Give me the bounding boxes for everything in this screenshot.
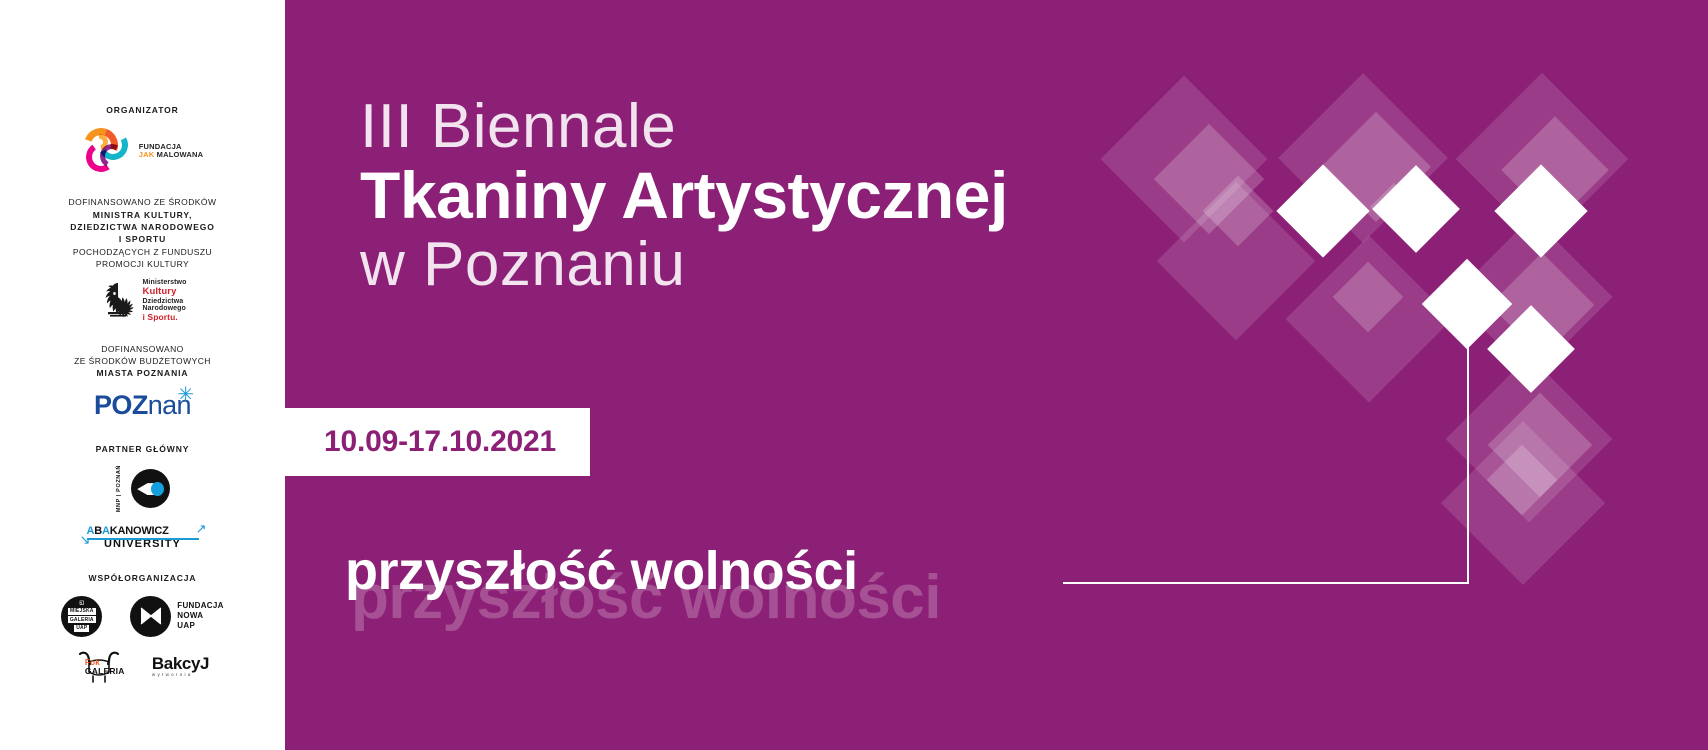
- city-credit-text: DOFINANSOWANO ZE ŚRODKÓW BUDŻETOWYCH MIA…: [74, 343, 211, 380]
- abk-k: K: [110, 525, 118, 537]
- fundacja-jak-malowana-logo: FUNDACJA JAK MALOWANA: [82, 126, 204, 176]
- poznan-upper: POZ: [94, 390, 148, 420]
- ministry-credit-line4: I SPORTU: [119, 233, 166, 245]
- fundacja-jak: JAK: [139, 150, 155, 159]
- connector-line-vertical: [1467, 333, 1469, 583]
- bakcyl-sub: wytwornia: [152, 673, 209, 678]
- abakanowicz-arrow-down-icon: ↗: [80, 534, 91, 547]
- poznan-logo: POZnan ✳: [94, 390, 191, 421]
- fundacja-malowana: MALOWANA: [157, 150, 204, 159]
- purple-panel: III Biennale Tkaniny Artystycznej w Pozn…: [285, 0, 1708, 750]
- connector-line-horizontal: [1063, 582, 1469, 584]
- nowa-line2: NOWA: [177, 611, 223, 621]
- abk-b: B: [94, 525, 102, 537]
- bakcyl-name: BakcyJ: [152, 655, 209, 672]
- coorganization-label: WSPÓŁORGANIZACJA: [89, 572, 197, 584]
- ministry-credit-line5: POCHODZĄCYCH Z FUNDUSZU: [73, 246, 212, 258]
- headline-line-1: III Biennale: [360, 95, 1008, 159]
- headline-line-2: Tkaniny Artystycznej: [360, 159, 1008, 233]
- ministry-credit-text: DOFINANSOWANO ZE ŚRODKÓW MINISTRA KULTUR…: [69, 196, 217, 270]
- ministry-credit-line2: MINISTRA KULTURY,: [93, 209, 193, 221]
- abk-a2: A: [102, 525, 110, 537]
- bowtie-icon: [139, 606, 163, 626]
- abk-university: UNIVERSITY: [87, 538, 199, 550]
- tagline: przyszłość wolności: [345, 540, 858, 602]
- sponsor-column: ORGANIZATOR FUNDACJA JAK MALOWANA DOFINA…: [0, 0, 285, 750]
- abakanowicz-university-logo: ABAKANOWICZ ↗ ↗ UNIVERSITY: [87, 525, 199, 550]
- organizer-label: ORGANIZATOR: [106, 104, 178, 116]
- bottom-partner-logos: Fok GALERIA BakcyJ wytwornia: [76, 650, 209, 684]
- fundacja-nowa-uap-logo: FUNDACJA NOWA UAP: [130, 596, 223, 637]
- mnp-poznan-logo: MNP | POZNAŃ: [115, 465, 170, 512]
- galeria-line1: MIEJSKA: [68, 608, 96, 615]
- polish-eagle-icon: [99, 280, 137, 322]
- headline-line-3: w Poznaniu: [360, 233, 1008, 297]
- city-credit-line3: MIASTA POZNANIA: [97, 367, 189, 379]
- nowa-line3: UAP: [177, 621, 223, 631]
- ministry-logo: Ministerstwo Kultury Dziedzictwa Narodow…: [99, 279, 187, 323]
- city-credit-line1: DOFINANSOWANO: [101, 343, 184, 355]
- event-date-badge: 10.09-17.10.2021: [285, 408, 590, 476]
- page-title: III Biennale Tkaniny Artystycznej w Pozn…: [360, 95, 1008, 298]
- fok-galeria-logo: Fok GALERIA: [76, 650, 122, 684]
- galeria-line2: GALERIA: [68, 616, 96, 623]
- partner-label: PARTNER GŁÓWNY: [96, 443, 190, 455]
- miejska-galeria-uap-logo: ◱ MIEJSKA GALERIA UAP: [61, 596, 102, 637]
- abakanowicz-arrow-up-icon: ↗: [196, 522, 207, 535]
- mnp-eye-icon: [131, 469, 170, 508]
- ministry-credit-line1: DOFINANSOWANO ZE ŚRODKÓW: [69, 196, 217, 208]
- galeria-line3: UAP: [74, 625, 89, 632]
- coorganizer-logos: ◱ MIEJSKA GALERIA UAP FUNDACJA NOWA: [61, 596, 223, 637]
- bull-line2: GALERIA: [85, 667, 125, 676]
- city-credit-line2: ZE ŚRODKÓW BUDŻETOWYCH: [74, 355, 211, 367]
- event-banner: ORGANIZATOR FUNDACJA JAK MALOWANA DOFINA…: [0, 0, 1708, 750]
- fundacja-swirl-icon: [82, 126, 134, 176]
- mnp-vertical-text: MNP | POZNAŃ: [115, 465, 124, 512]
- ministry-logo-line2: Kultury: [143, 287, 187, 298]
- ministry-credit-line3: DZIEDZICTWA NARODOWEGO: [70, 221, 215, 233]
- ministry-logo-line3: Dziedzictwa: [143, 298, 187, 306]
- bakcyl-logo: BakcyJ wytwornia: [152, 655, 209, 678]
- ministry-credit-line6: PROMOCJI KULTURY: [96, 258, 189, 270]
- abk-rest: ANOWICZ: [118, 525, 169, 537]
- poznan-star-icon: ✳: [177, 385, 194, 405]
- tagline-block: przyszłość wolności przyszłość wolności: [345, 540, 858, 602]
- nowa-line1: FUNDACJA: [177, 601, 223, 611]
- fundacja-nowa-mark: [130, 596, 171, 637]
- ministry-logo-line5: i Sportu.: [143, 313, 187, 323]
